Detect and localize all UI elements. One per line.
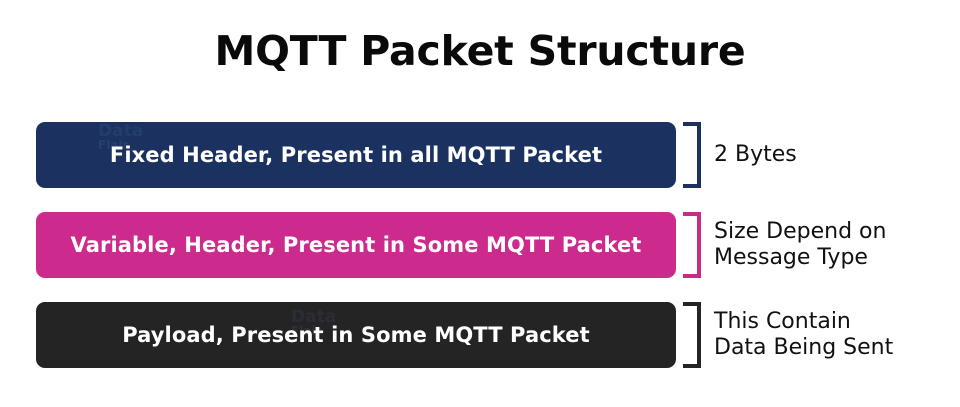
mqtt-packet-structure-diagram: MQTT Packet Structure Data Flair Fixed H… [0, 0, 960, 407]
packet-segment-row-variable-header: Variable, Header, Present in Some MQTT P… [0, 212, 960, 278]
annotation-line: Size Depend on [714, 219, 886, 245]
bracket-payload [683, 302, 701, 368]
annotation-payload: This Contain Data Being Sent [714, 302, 893, 368]
watermark-text: Data [98, 122, 143, 141]
packet-segment-bar-fixed-header: Data Flair Fixed Header, Present in all … [36, 122, 676, 188]
annotation-variable-header: Data Flair Size Depend on Message Type [714, 212, 886, 278]
packet-segment-label-fixed-header: Fixed Header, Present in all MQTT Packet [110, 143, 602, 167]
page-title: MQTT Packet Structure [0, 27, 960, 75]
packet-segment-label-variable-header: Variable, Header, Present in Some MQTT P… [71, 233, 642, 257]
packet-segment-bar-variable-header: Variable, Header, Present in Some MQTT P… [36, 212, 676, 278]
bracket-fixed-header [683, 122, 701, 188]
packet-segment-row-fixed-header: Data Flair Fixed Header, Present in all … [0, 122, 960, 188]
packet-segment-row-payload: Data Flair Payload, Present in Some MQTT… [0, 302, 960, 368]
annotation-line: Message Type [714, 245, 886, 271]
annotation-fixed-header: 2 Bytes [714, 122, 797, 188]
annotation-line: Data Being Sent [714, 335, 893, 361]
packet-segment-label-payload: Payload, Present in Some MQTT Packet [122, 323, 590, 347]
annotation-line: 2 Bytes [714, 142, 797, 168]
annotation-line: This Contain [714, 309, 893, 335]
packet-segment-bar-payload: Data Flair Payload, Present in Some MQTT… [36, 302, 676, 368]
bracket-variable-header [683, 212, 701, 278]
